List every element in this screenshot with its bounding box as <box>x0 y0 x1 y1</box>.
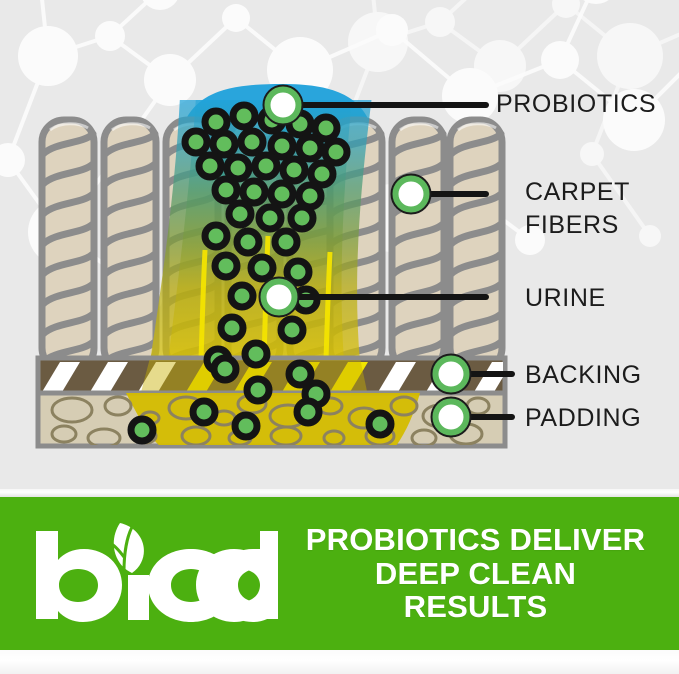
bioda-logo: R <box>0 497 290 650</box>
brand-banner: R PROBIOTICS DELIVER DEEP CLEAN RESULTS <box>0 497 679 650</box>
tagline-line-3: RESULTS <box>290 590 661 623</box>
tagline-line-2: DEEP CLEAN <box>290 557 661 590</box>
banner-divider-bottom <box>0 650 679 674</box>
carpet-cross-section-illustration: PROBIOTICS CARPET FIBERS URINE BACKING P… <box>0 0 679 489</box>
logo-letter-i <box>128 575 149 620</box>
tagline-line-1: PROBIOTICS DELIVER <box>290 523 661 556</box>
callout-marker-urine[interactable] <box>260 278 298 316</box>
logo-letter-b <box>36 531 122 622</box>
infographic-stage: PROBIOTICS CARPET FIBERS URINE BACKING P… <box>0 0 679 674</box>
callout-label-urine: URINE <box>525 284 606 313</box>
callout-marker-carpet-fibers[interactable] <box>392 175 430 213</box>
callout-marker-padding[interactable] <box>432 398 470 436</box>
callout-label-carpet-fibers-line2: FIBERS <box>525 211 619 240</box>
banner-tagline: PROBIOTICS DELIVER DEEP CLEAN RESULTS <box>290 523 679 623</box>
callout-marker-backing[interactable] <box>432 355 470 393</box>
callout-marker-probiotics[interactable] <box>264 86 302 124</box>
callout-label-backing: BACKING <box>525 361 642 390</box>
bioda-logo-svg: R <box>28 519 278 629</box>
callout-label-probiotics: PROBIOTICS <box>496 90 656 119</box>
callout-label-carpet-fibers-line1: CARPET <box>525 178 630 207</box>
banner-divider-top <box>0 489 679 497</box>
callout-label-padding: PADDING <box>525 404 641 433</box>
